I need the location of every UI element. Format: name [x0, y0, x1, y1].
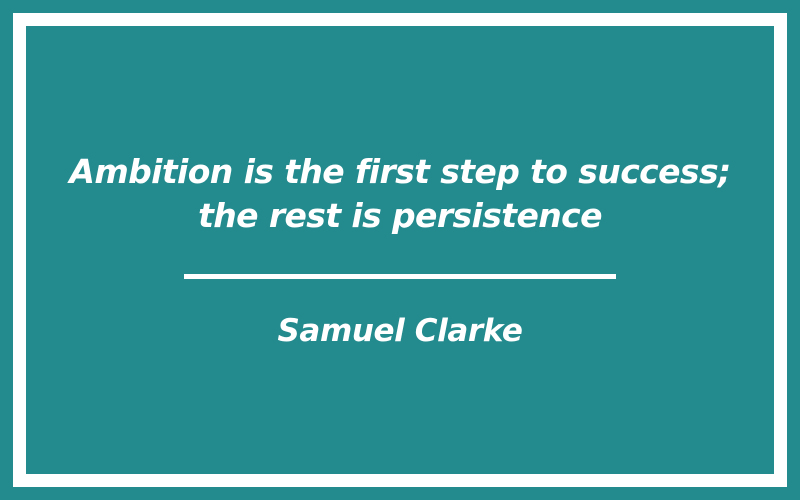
quote-card: Ambition is the first step to success; t… — [0, 0, 800, 500]
divider-rule — [184, 274, 616, 279]
quote-text: Ambition is the first step to success; t… — [26, 150, 774, 238]
card-inner-panel: Ambition is the first step to success; t… — [26, 26, 774, 474]
card-frame-border: Ambition is the first step to success; t… — [13, 13, 787, 487]
author-name: Samuel Clarke — [278, 312, 523, 350]
